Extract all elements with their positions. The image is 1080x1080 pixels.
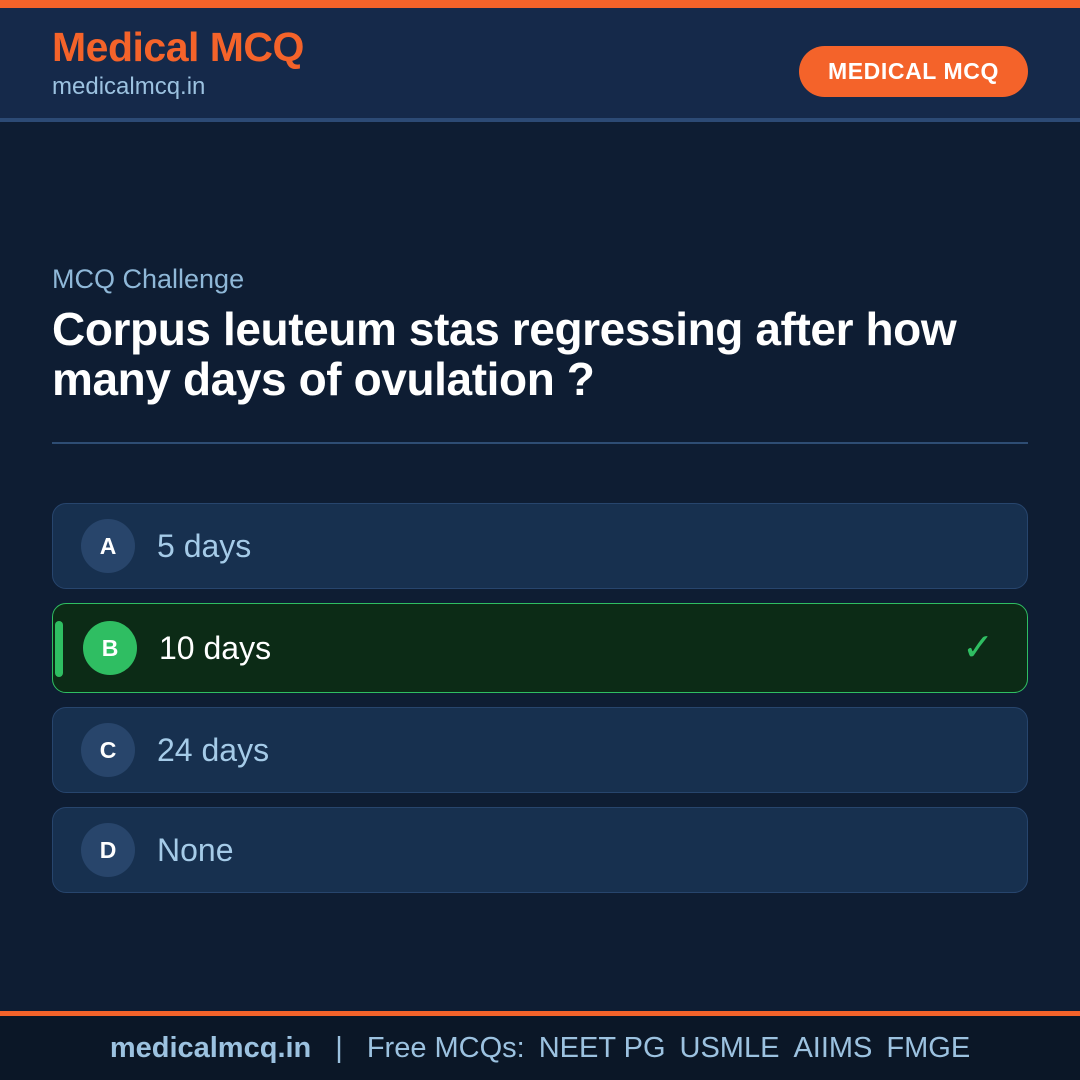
footer-exam-neetpg: NEET PG bbox=[539, 1032, 666, 1065]
footer-exam-fmge: FMGE bbox=[886, 1032, 970, 1065]
option-b[interactable]: B 10 days ✓ bbox=[52, 603, 1028, 693]
brand: Medical MCQ medicalmcq.in bbox=[52, 22, 304, 102]
option-d[interactable]: D None bbox=[52, 807, 1028, 893]
eyebrow-label: MCQ Challenge bbox=[52, 262, 1028, 296]
question-divider bbox=[52, 442, 1028, 444]
header-badge[interactable]: MEDICAL MCQ bbox=[799, 46, 1028, 97]
page-title: Corpus leuteum stas regressing after how… bbox=[52, 304, 1028, 404]
check-icon: ✓ bbox=[962, 629, 994, 667]
option-b-badge: B bbox=[83, 621, 137, 675]
question-block: MCQ Challenge Corpus leuteum stas regres… bbox=[52, 262, 1028, 444]
option-c[interactable]: C 24 days bbox=[52, 707, 1028, 793]
option-b-label: 10 days bbox=[159, 629, 271, 667]
footer-exam-aiims: AIIMS bbox=[793, 1032, 872, 1065]
option-a[interactable]: A 5 days bbox=[52, 503, 1028, 589]
footer-label: Free MCQs: bbox=[367, 1032, 525, 1065]
page-footer: medicalmcq.in | Free MCQs: NEET PG USMLE… bbox=[0, 1016, 1080, 1080]
option-d-badge: D bbox=[81, 823, 135, 877]
correct-accent-bar bbox=[55, 621, 63, 677]
option-a-label: 5 days bbox=[157, 527, 251, 565]
page-header: Medical MCQ medicalmcq.in MEDICAL MCQ bbox=[0, 8, 1080, 120]
footer-exam-usmle: USMLE bbox=[680, 1032, 780, 1065]
footer-separator: | bbox=[335, 1032, 343, 1065]
option-c-badge: C bbox=[81, 723, 135, 777]
footer-site: medicalmcq.in bbox=[110, 1032, 311, 1065]
brand-subtitle: medicalmcq.in bbox=[52, 72, 304, 102]
header-divider bbox=[0, 118, 1080, 122]
footer-content: medicalmcq.in | Free MCQs: NEET PG USMLE… bbox=[110, 1032, 970, 1065]
top-accent-bar bbox=[0, 0, 1080, 8]
brand-title: Medical MCQ bbox=[52, 22, 304, 72]
option-c-label: 24 days bbox=[157, 731, 269, 769]
option-d-label: None bbox=[157, 831, 234, 869]
option-a-badge: A bbox=[81, 519, 135, 573]
options-list: A 5 days B 10 days ✓ C 24 days D None bbox=[52, 503, 1028, 907]
